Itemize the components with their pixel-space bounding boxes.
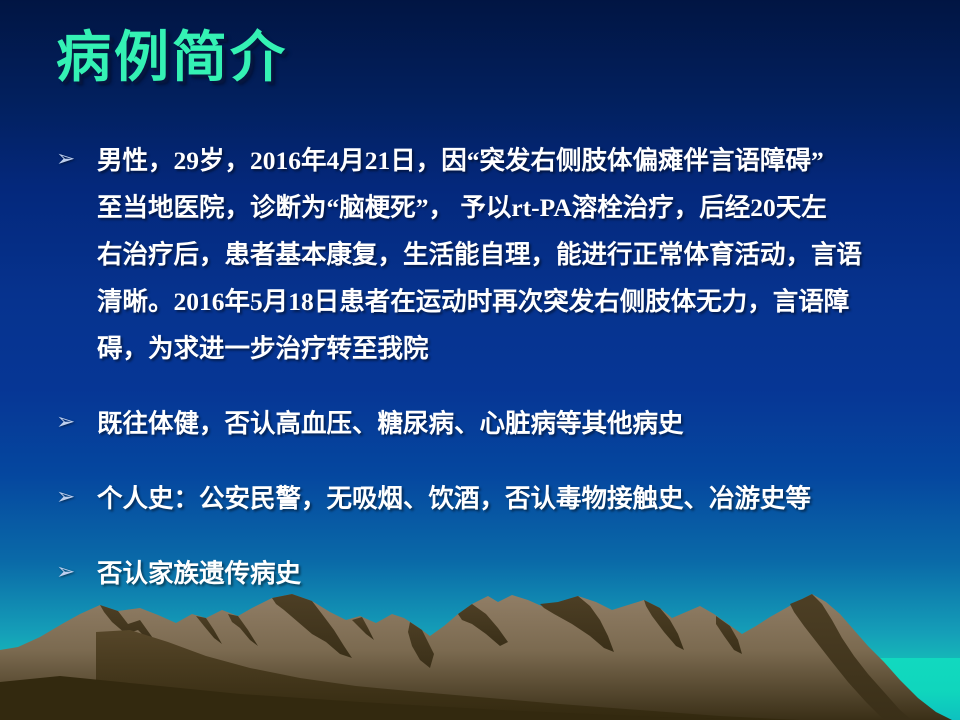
bullet-arrow-icon: ➢ — [56, 550, 97, 595]
bullet-personal-history-text: 个人史：公安民警，无吸烟、饮酒，否认毒物接触史、冶游史等 — [97, 475, 916, 522]
bullet-case-history: ➢ 男性，29岁，2016年4月21日，因“突发右侧肢体偏瘫伴言语障碍” 至当地… — [56, 137, 916, 372]
body-content: ➢ 男性，29岁，2016年4月21日，因“突发右侧肢体偏瘫伴言语障碍” 至当地… — [56, 137, 916, 597]
text-line: 否认家族遗传病史 — [97, 550, 916, 597]
bullet-arrow-icon: ➢ — [56, 400, 97, 445]
bullet-personal-history: ➢ 个人史：公安民警，无吸烟、饮酒，否认毒物接触史、冶游史等 — [56, 475, 916, 522]
bullet-arrow-icon: ➢ — [56, 137, 97, 182]
slide-canvas: 病例简介 ➢ 男性，29岁，2016年4月21日，因“突发右侧肢体偏瘫伴言语障碍… — [0, 0, 960, 720]
text-line: 既往体健，否认高血压、糖尿病、心脏病等其他病史 — [97, 400, 916, 447]
bullet-case-history-text: 男性，29岁，2016年4月21日，因“突发右侧肢体偏瘫伴言语障碍” 至当地医院… — [97, 137, 916, 372]
bullet-past-history: ➢ 既往体健，否认高血压、糖尿病、心脏病等其他病史 — [56, 400, 916, 447]
text-line: 碍，为求进一步治疗转至我院 — [97, 325, 916, 372]
bullet-family-history: ➢ 否认家族遗传病史 — [56, 550, 916, 597]
text-line: 清晰。2016年5月18日患者在运动时再次突发右侧肢体无力，言语障 — [97, 278, 916, 325]
text-line: 至当地医院，诊断为“脑梗死”， 予以rt-PA溶栓治疗，后经20天左 — [97, 184, 916, 231]
text-line: 个人史：公安民警，无吸烟、饮酒，否认毒物接触史、冶游史等 — [97, 475, 916, 522]
text-line: 右治疗后，患者基本康复，生活能自理，能进行正常体育活动，言语 — [97, 231, 916, 278]
text-line: 男性，29岁，2016年4月21日，因“突发右侧肢体偏瘫伴言语障碍” — [97, 137, 916, 184]
page-title: 病例简介 — [56, 29, 288, 87]
bullet-arrow-icon: ➢ — [56, 475, 97, 520]
bullet-past-history-text: 既往体健，否认高血压、糖尿病、心脏病等其他病史 — [97, 400, 916, 447]
bullet-family-history-text: 否认家族遗传病史 — [97, 550, 916, 597]
mountain-range-decoration — [0, 590, 960, 720]
